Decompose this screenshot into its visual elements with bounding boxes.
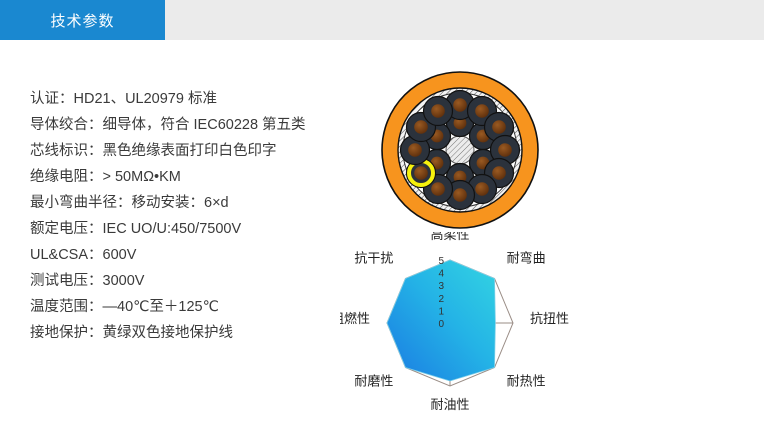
list-item: 芯线标识：黑色绝缘表面打印白色印字: [30, 138, 350, 164]
radar-category-label: 抗干扰: [354, 250, 393, 265]
list-item: 认证：HD21、UL20979 标准: [30, 86, 350, 112]
list-item: 接地保护：黄绿双色接地保护线: [30, 320, 350, 346]
radar-tick-label: 4: [438, 269, 444, 280]
radar-category-label: 阻燃性: [340, 311, 370, 326]
cable-svg: [355, 55, 565, 255]
radar-tick-label: 5: [438, 256, 444, 267]
tab-technical-parameters-label: 技术参数: [50, 10, 114, 31]
performance-radar-chart: 543210 高柔性耐弯曲抗扭性耐热性耐油性耐磨性阻燃性抗干扰: [340, 232, 580, 418]
list-item: UL&CSA：600V: [30, 242, 350, 268]
radar-category-label: 耐弯曲: [507, 250, 546, 265]
specifications-list: 认证：HD21、UL20979 标准 导体绞合：细导体，符合 IEC60228 …: [30, 86, 350, 346]
radar-category-label: 耐磨性: [354, 374, 393, 389]
list-item: 绝缘电阻：> 50MΩ•KM: [30, 164, 350, 190]
radar-tick-label: 1: [438, 306, 444, 317]
list-item: 测试电压：3000V: [30, 268, 350, 294]
radar-category-label: 耐油性: [430, 397, 469, 412]
radar-tick-label: 0: [438, 319, 444, 330]
cable-core: [424, 97, 453, 126]
cable-cross-section-image: [355, 55, 565, 255]
list-item: 温度范围：—40℃至＋125℃: [30, 294, 350, 320]
radar-chart-svg: 543210 高柔性耐弯曲抗扭性耐热性耐油性耐磨性阻燃性抗干扰: [340, 232, 580, 418]
list-item: 最小弯曲半径：移动安装：6×d: [30, 190, 350, 216]
radar-category-label: 高柔性: [430, 232, 469, 242]
list-item: 导体绞合：细导体，符合 IEC60228 第五类: [30, 112, 350, 138]
list-item: 额定电压：IEC UO/U:450/7500V: [30, 216, 350, 242]
radar-tick-label: 2: [438, 294, 444, 305]
tab-technical-parameters[interactable]: 技术参数: [0, 0, 165, 40]
radar-category-label: 抗扭性: [530, 311, 569, 326]
radar-tick-label: 3: [438, 281, 444, 292]
radar-category-label: 耐热性: [507, 374, 546, 389]
section-header-bar: 技术参数: [0, 0, 764, 40]
